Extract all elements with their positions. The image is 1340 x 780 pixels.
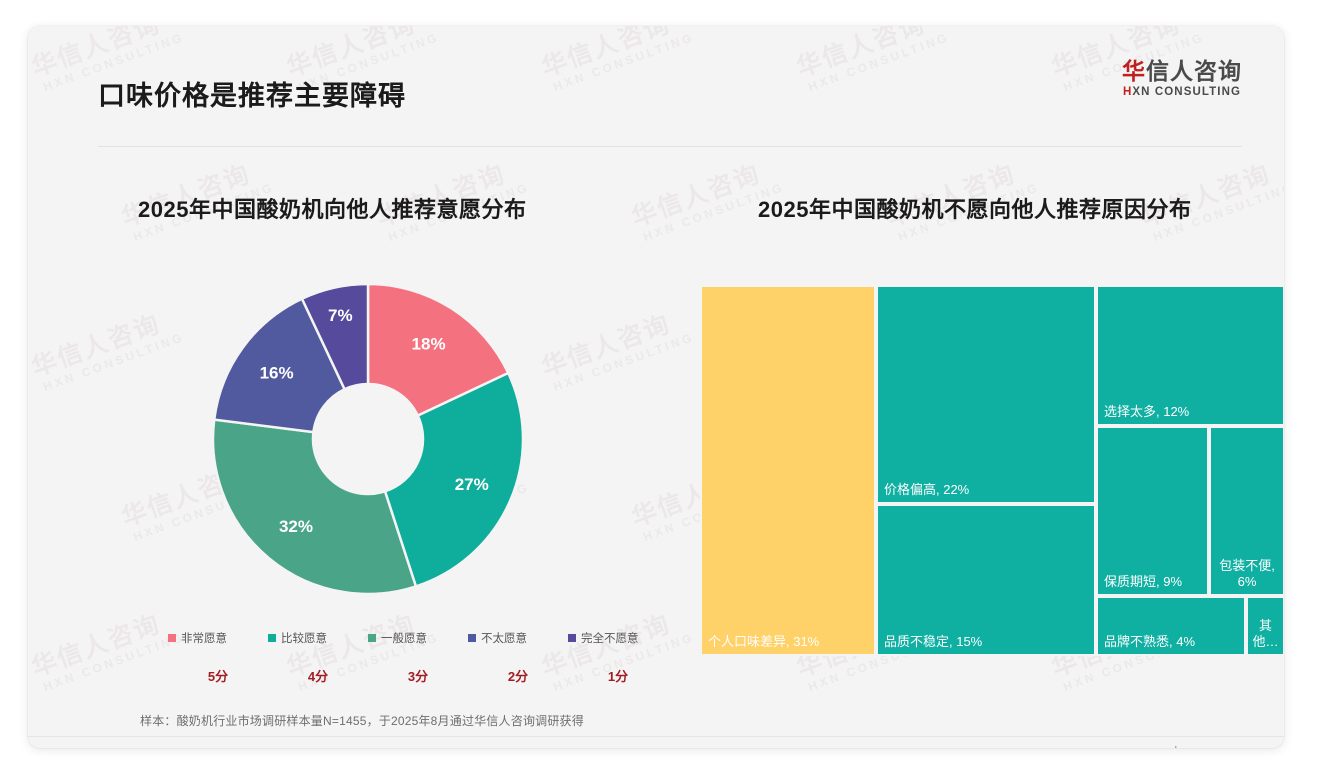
slide-footer: ©2025.10 HXR华信人咨询 www.hxrcon.com (28, 737, 1284, 748)
logo-english-accent: H (1123, 86, 1132, 98)
source-note: 样本：酸奶机行业市场调研样本量N=1455，于2025年8月通过华信人咨询调研获… (140, 712, 584, 729)
treemap-tile[interactable]: 保质期短, 9% (1096, 426, 1209, 596)
donut-score-row: 5分4分3分2分1分 (168, 666, 668, 688)
treemap-tile-label: 保质期短, 9% (1104, 574, 1203, 590)
donut-chart-svg: 18%27%32%16%7% (183, 274, 553, 604)
header-divider (98, 146, 1242, 147)
legend-label: 比较愿意 (281, 630, 327, 646)
treemap-tile-label: 个人口味差异, 31% (708, 634, 870, 650)
treemap-tile[interactable]: 其他… (1246, 596, 1284, 656)
legend-item[interactable]: 不太愿意 (468, 630, 568, 646)
treemap-tile-label: 价格偏高, 22% (884, 482, 1090, 498)
logo-english-rest: XN CONSULTING (1132, 86, 1241, 98)
donut-slice-label: 7% (328, 306, 353, 325)
treemap-tile[interactable]: 品质不稳定, 15% (876, 504, 1096, 656)
logo-chinese-accent: 华 (1122, 58, 1146, 84)
donut-slice-label: 18% (412, 335, 446, 354)
treemap-tile-label: 选择太多, 12% (1104, 404, 1279, 420)
legend-swatch (468, 634, 476, 642)
legend-item[interactable]: 一般愿意 (368, 630, 468, 646)
watermark: 华信人咨询HXN CONSULTING (28, 604, 186, 696)
score-label: 5分 (168, 666, 268, 688)
score-label: 2分 (468, 666, 568, 688)
score-label: 1分 (568, 666, 668, 688)
treemap-tile-label: 包装不便,6% (1214, 558, 1280, 591)
donut-legend: 非常愿意比较愿意一般愿意不太愿意完全不愿意 (168, 628, 668, 648)
treemap-tile-label: 其他… (1251, 618, 1280, 651)
treemap-chart: 个人口味差异, 31%价格偏高, 22%品质不稳定, 15%选择太多, 12%保… (700, 285, 1284, 656)
legend-swatch (568, 634, 576, 642)
left-chart-title: 2025年中国酸奶机向他人推荐意愿分布 (138, 192, 526, 224)
score-label: 3分 (368, 666, 468, 688)
right-chart-title: 2025年中国酸奶机不愿向他人推荐原因分布 (758, 192, 1191, 224)
donut-slice[interactable] (213, 420, 416, 594)
score-label: 4分 (268, 666, 368, 688)
watermark: 华信人咨询HXN CONSULTING (538, 304, 696, 396)
treemap-tile-label: 品牌不熟悉, 4% (1104, 634, 1240, 650)
legend-swatch (368, 634, 376, 642)
donut-slice-label: 16% (260, 364, 294, 383)
treemap-tile-label: 品质不稳定, 15% (884, 634, 1090, 650)
donut-slice-label: 32% (279, 517, 313, 536)
footer-copyright: ©2025.10 HXR华信人咨询 (102, 746, 237, 748)
legend-swatch (268, 634, 276, 642)
treemap-tile[interactable]: 包装不便,6% (1209, 426, 1284, 596)
slide-header: 口味价格是推荐主要障碍 华信人咨询 HXN CONSULTING (28, 26, 1284, 122)
legend-label: 不太愿意 (481, 630, 527, 646)
treemap-tile[interactable]: 价格偏高, 22% (876, 285, 1096, 504)
logo-chinese: 华信人咨询 (1122, 58, 1242, 84)
legend-item[interactable]: 比较愿意 (268, 630, 368, 646)
slide-card: 华信人咨询HXN CONSULTING华信人咨询HXN CONSULTING华信… (28, 26, 1284, 748)
legend-swatch (168, 634, 176, 642)
legend-label: 完全不愿意 (581, 630, 639, 646)
legend-item[interactable]: 完全不愿意 (568, 630, 668, 646)
brand-logo: 华信人咨询 HXN CONSULTING (1122, 58, 1242, 98)
logo-english: HXN CONSULTING (1122, 86, 1242, 98)
legend-item[interactable]: 非常愿意 (168, 630, 268, 646)
donut-chart: 18%27%32%16%7% (183, 274, 553, 604)
treemap-tile[interactable]: 个人口味差异, 31% (700, 285, 876, 656)
treemap-tile[interactable]: 选择太多, 12% (1096, 285, 1284, 426)
legend-label: 一般愿意 (381, 630, 427, 646)
legend-label: 非常愿意 (181, 630, 227, 646)
logo-chinese-rest: 信人咨询 (1146, 58, 1242, 84)
donut-slice-label: 27% (455, 475, 489, 494)
watermark: 华信人咨询HXN CONSULTING (28, 304, 186, 396)
treemap-tile[interactable]: 品牌不熟悉, 4% (1096, 596, 1246, 656)
footer-website: www.hxrcon.com (1147, 746, 1234, 748)
page-title: 口味价格是推荐主要障碍 (98, 74, 406, 113)
